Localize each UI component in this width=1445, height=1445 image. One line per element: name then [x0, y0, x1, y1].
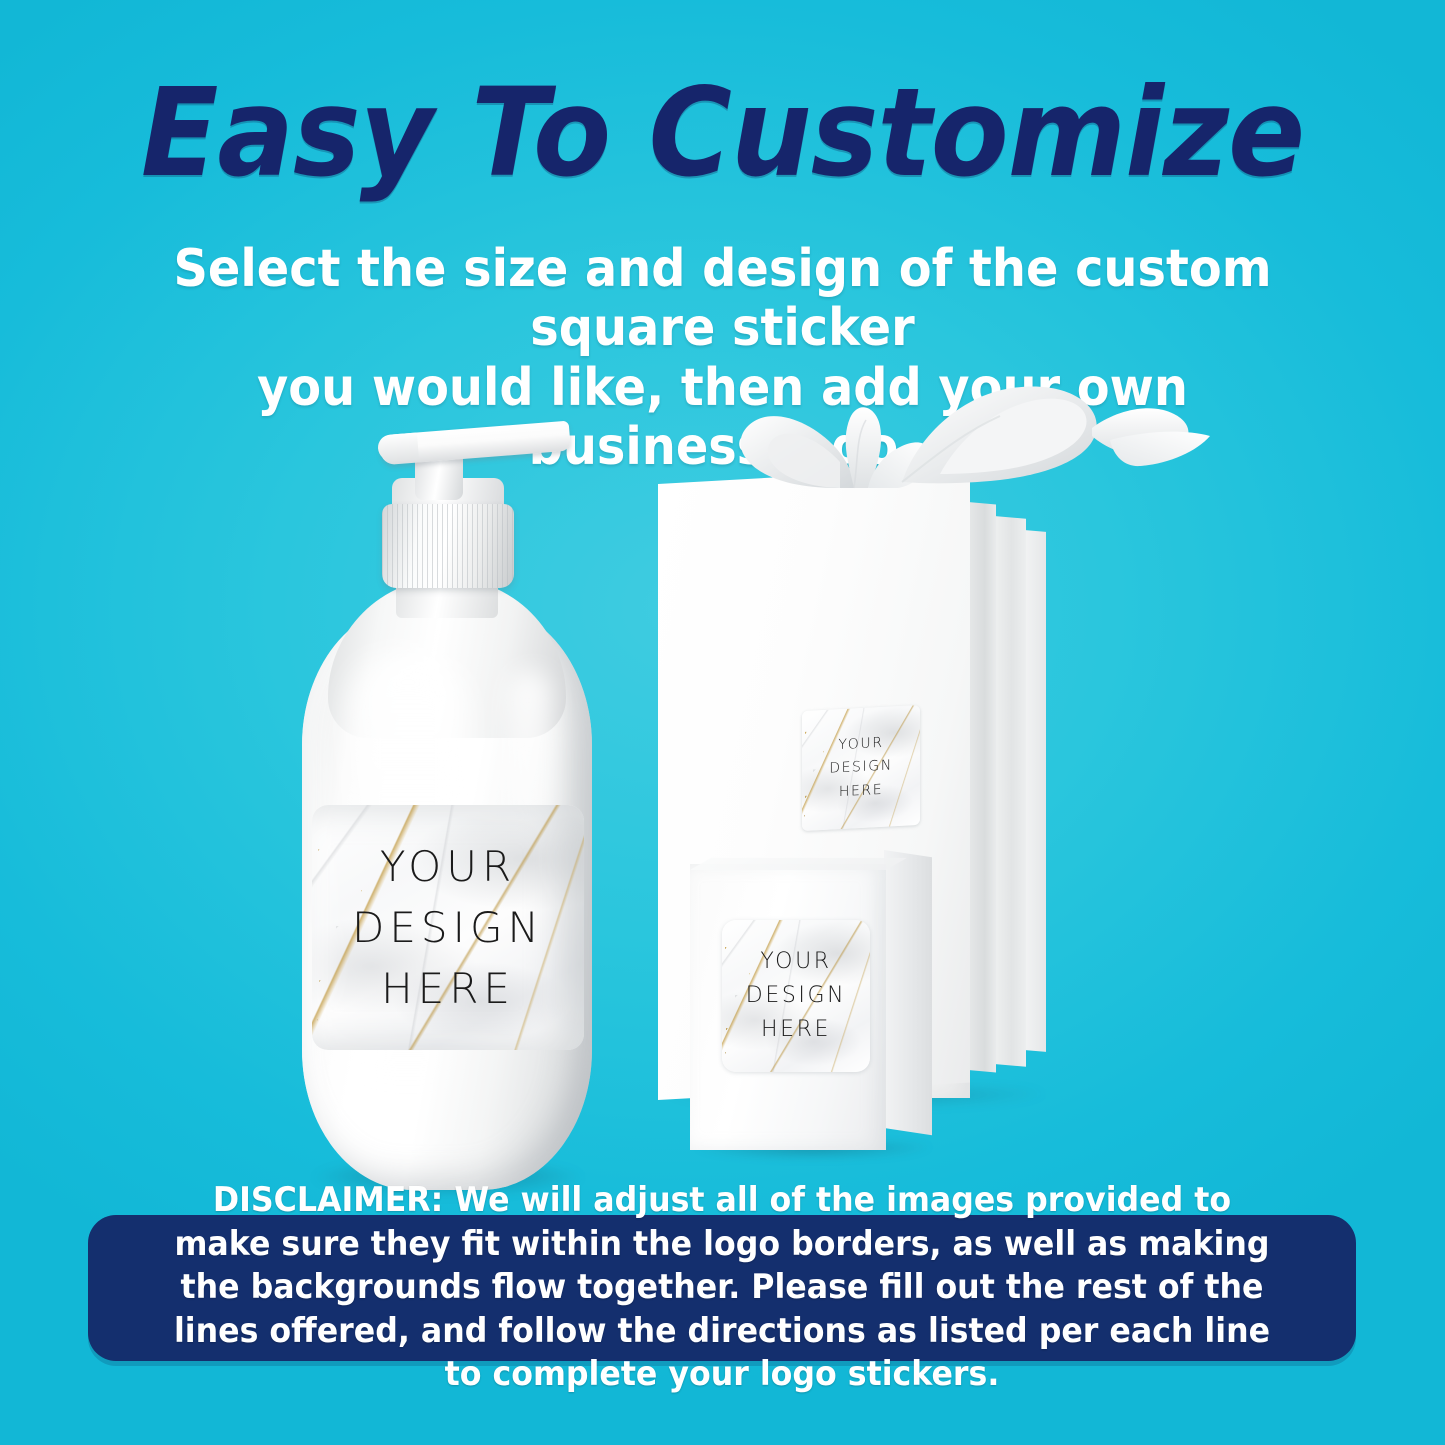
small-box-side-panel — [884, 850, 932, 1135]
label-line-1: YOUR — [380, 836, 516, 897]
gift-box-side-panel-3 — [1024, 530, 1046, 1052]
small-box-top-face — [690, 858, 907, 870]
small-sticker-line-2: DESIGN — [746, 979, 846, 1013]
product-mockup-scene: YOUR DESIGN HERE YOUR DESIGN HERE — [0, 370, 1445, 1200]
subtitle-line-1: Select the size and design of the custom… — [154, 240, 1290, 359]
small-sticker-line-1: YOUR — [760, 945, 831, 979]
gift-sticker-line-2: DESIGN — [829, 755, 893, 781]
label-line-3: HERE — [381, 958, 515, 1019]
small-box-sticker-text: YOUR DESIGN HERE — [722, 920, 870, 1072]
small-product-box-mockup: YOUR DESIGN HERE — [690, 850, 960, 1170]
page-title: Easy To Customize — [51, 72, 1395, 194]
gift-sticker-text: YOUR DESIGN HERE — [802, 705, 920, 831]
promo-graphic: Easy To Customize Select the size and de… — [0, 0, 1445, 1445]
gift-box-marble-sticker: YOUR DESIGN HERE — [802, 705, 920, 831]
ribbon-bow-icon — [640, 370, 1240, 500]
small-sticker-line-3: HERE — [761, 1013, 831, 1047]
bottle-marble-label: YOUR DESIGN HERE — [312, 805, 584, 1050]
small-box-marble-sticker: YOUR DESIGN HERE — [722, 920, 870, 1072]
gift-sticker-line-1: YOUR — [838, 732, 883, 757]
label-line-2: DESIGN — [352, 897, 544, 958]
bottle-ribbed-collar — [382, 504, 514, 588]
gift-sticker-line-3: HERE — [839, 778, 883, 803]
disclaimer-text: DISCLAIMER: We will adjust all of the im… — [164, 1179, 1280, 1397]
bottle-label-text: YOUR DESIGN HERE — [312, 805, 584, 1050]
gift-box-side-panel-1 — [968, 502, 996, 1072]
pump-bottle-mockup: YOUR DESIGN HERE — [292, 420, 602, 1200]
pump-nozzle-lip — [377, 432, 419, 461]
disclaimer-label: DISCLAIMER: — [213, 1180, 443, 1220]
disclaimer-banner: DISCLAIMER: We will adjust all of the im… — [88, 1215, 1356, 1361]
gift-box-side-panel-2 — [994, 516, 1026, 1067]
